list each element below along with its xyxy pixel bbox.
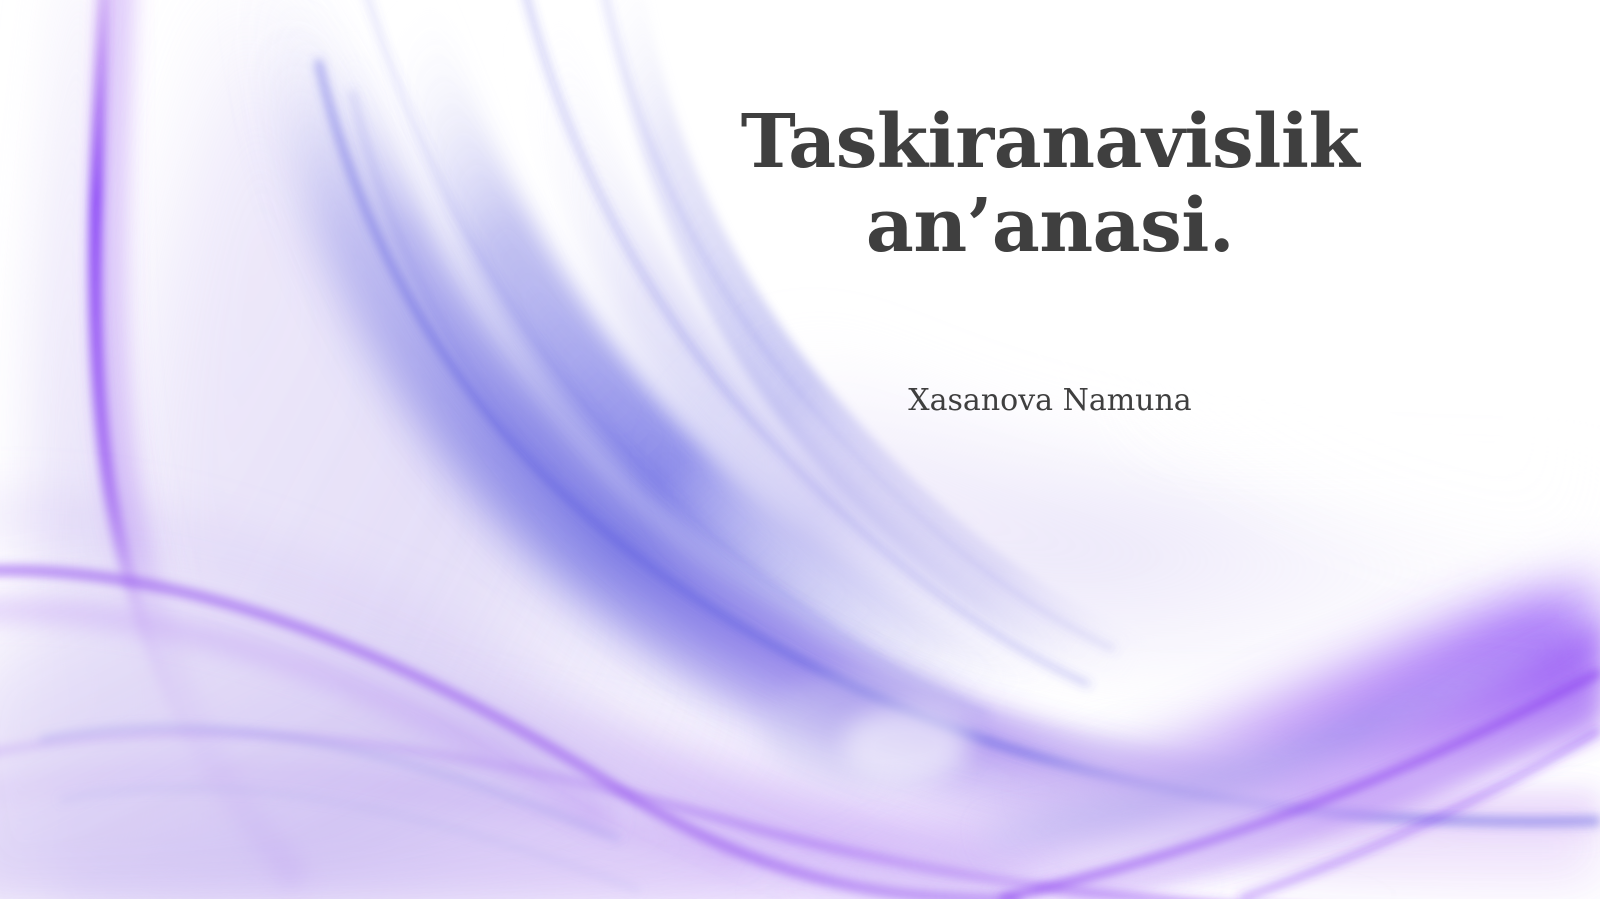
- abstract-ribbon-background-image: [0, 0, 1600, 899]
- presentation-slide: Taskiranavislik an’anasi. Xasanova Namun…: [0, 0, 1600, 899]
